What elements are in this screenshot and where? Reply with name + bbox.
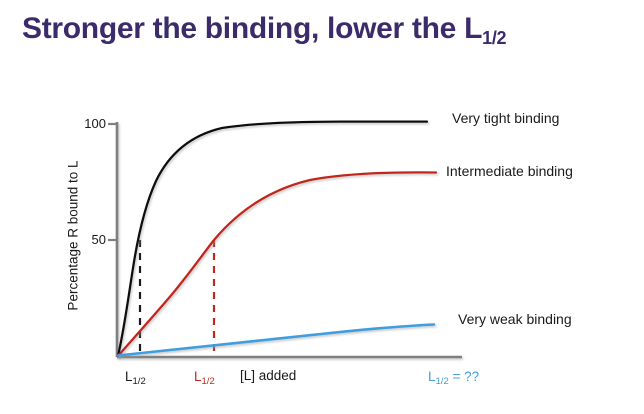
series-label-very-tight-binding: Very tight binding <box>452 110 559 126</box>
x-axis-title: [L] added <box>240 368 296 383</box>
lhalf-label-tight-sub: 1/2 <box>133 376 146 387</box>
series-label-very-weak-binding: Very weak binding <box>458 311 572 327</box>
lhalf-label-intermediate-sub: 1/2 <box>202 376 215 387</box>
curve-very-weak-binding <box>118 325 434 356</box>
y-axis-title: Percentage R bound to L <box>66 136 81 336</box>
slide-canvas: Stronger the binding, lower the L1/2 <box>0 0 644 414</box>
lhalf-label-weak: L1/2 = ?? <box>428 369 479 384</box>
lhalf-label-tight: L1/2 <box>125 369 146 384</box>
lhalf-label-intermediate: L1/2 <box>194 369 215 384</box>
lhalf-label-weak-sub: 1/2 <box>436 376 449 387</box>
binding-curve-chart <box>0 0 644 414</box>
lhalf-label-weak-base: L <box>428 369 436 384</box>
lhalf-label-tight-base: L <box>125 369 133 384</box>
series-label-intermediate-binding: Intermediate binding <box>446 163 573 179</box>
lhalf-label-weak-value: = ?? <box>449 369 479 384</box>
lhalf-label-intermediate-base: L <box>194 369 202 384</box>
y-tick-label-100: 100 <box>64 116 106 131</box>
curve-very-tight-binding <box>118 122 427 356</box>
